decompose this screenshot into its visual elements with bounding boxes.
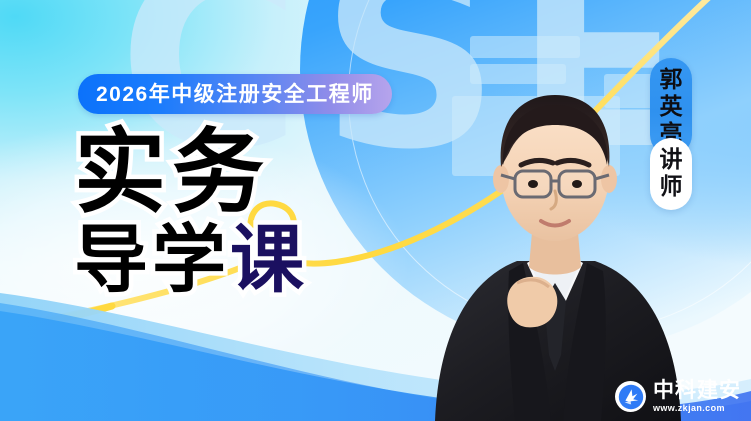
headline-line-1: 实务 <box>74 131 454 216</box>
brand-logo[interactable]: 中科建安 www.zkjan.com <box>615 380 741 413</box>
instructor-role-badge: 讲 师 <box>650 138 692 210</box>
brand-url: www.zkjan.com <box>653 404 741 413</box>
course-category-label: 2026年中级注册安全工程师 <box>96 84 374 105</box>
course-cover-poster: CSE <box>0 0 751 421</box>
instructor-name-char: 英 <box>660 94 683 121</box>
instructor-name-char: 郭 <box>660 67 683 94</box>
brand-logo-text: 中科建安 www.zkjan.com <box>653 380 741 413</box>
course-category-badge[interactable]: 2026年中级注册安全工程师 <box>78 74 392 114</box>
poster-headline: 实务 导学课 <box>74 131 454 294</box>
brand-name: 中科建安 <box>653 380 741 401</box>
instructor-role-char: 师 <box>660 174 683 201</box>
headline-line-2: 导学课 <box>74 226 454 294</box>
star-arrow-icon <box>615 381 646 412</box>
headline-line-2-main: 导学 <box>74 217 230 303</box>
headline-line-2-accent: 课 <box>230 217 308 303</box>
instructor-role-char: 讲 <box>660 147 683 174</box>
